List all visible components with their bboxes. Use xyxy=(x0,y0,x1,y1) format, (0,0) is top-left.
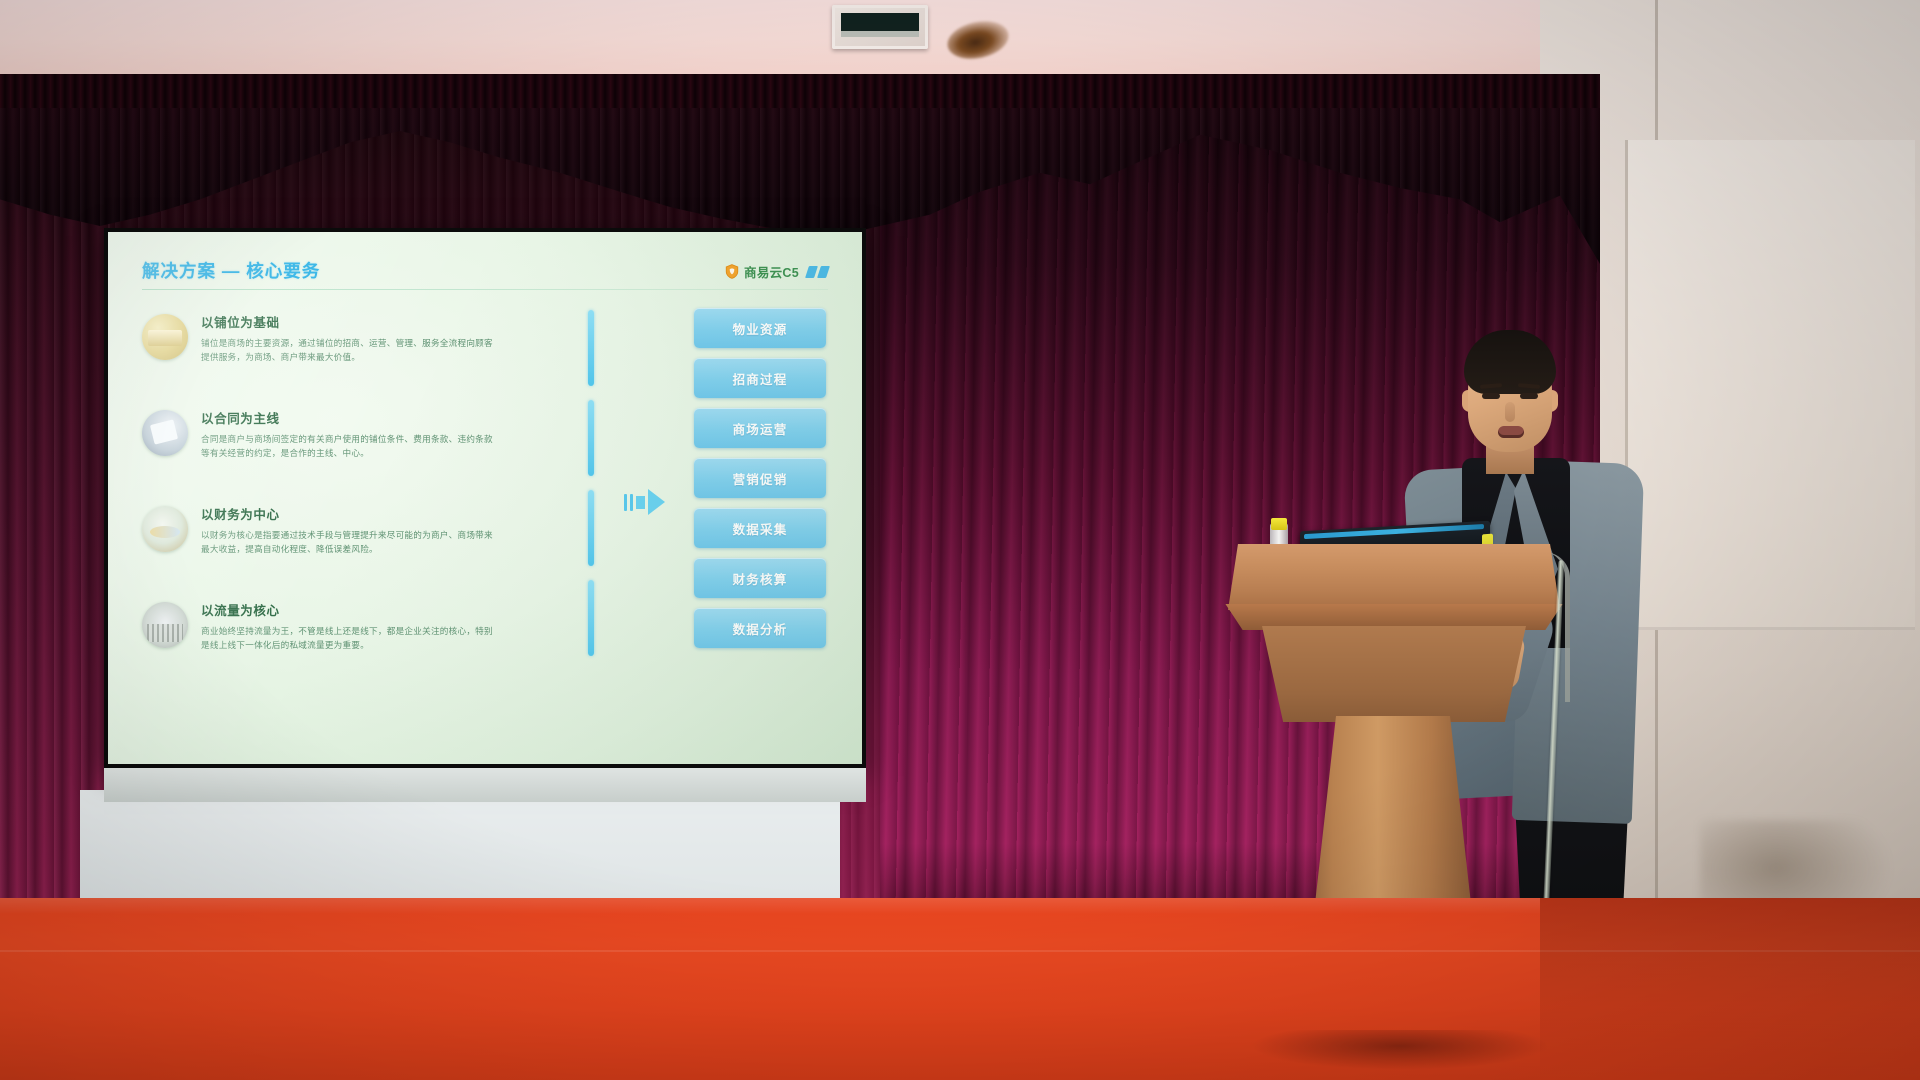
feature-description: 合同是商户与商场间签定的有关商户使用的铺位条件、费用条款、违约条款等有关经营的约… xyxy=(201,432,501,460)
feature-item: 以合同为主线 合同是商户与商场间签定的有关商户使用的铺位条件、费用条款、违约条款… xyxy=(142,406,612,502)
module-chip: 物业资源 xyxy=(694,308,826,348)
curtain-rail xyxy=(0,74,1600,108)
contract-signing-photo-icon xyxy=(142,410,188,456)
wall-panel xyxy=(1625,140,1915,630)
arrow-tick xyxy=(630,494,633,511)
crowd-photo-icon xyxy=(142,602,188,648)
feature-rail-group xyxy=(588,310,596,708)
podium-floor-shadow xyxy=(1250,1030,1550,1070)
slide-body: 以铺位为基础 铺位是商场的主要资源，通过铺位的招商、运营、管理、服务全流程向顾客… xyxy=(142,304,828,712)
feature-item: 以流量为核心 商业始终坚持流量为王，不管是线上还是线下，都是企业关注的核心，特别… xyxy=(142,598,612,694)
podium-top xyxy=(1228,544,1560,610)
feature-rail xyxy=(588,310,594,386)
floor-shadow xyxy=(1540,898,1920,1080)
shield-icon xyxy=(725,264,739,279)
brand-logo: 商易云C5 xyxy=(725,262,828,283)
finance-globe-photo-icon xyxy=(142,506,188,552)
right-arrow-icon xyxy=(624,480,682,524)
header-divider xyxy=(142,289,828,290)
arrow-tick xyxy=(624,494,627,511)
podium-body xyxy=(1262,626,1526,722)
feature-rail xyxy=(588,580,594,656)
feature-text: 以铺位为基础 铺位是商场的主要资源，通过铺位的招商、运营、管理、服务全流程向顾客… xyxy=(201,310,501,364)
module-chip: 营销促销 xyxy=(694,458,826,498)
feature-title: 以铺位为基础 xyxy=(201,312,501,331)
brand-name: 商易云C5 xyxy=(744,262,799,281)
module-chip: 商场运营 xyxy=(694,408,826,448)
feature-item: 以铺位为基础 铺位是商场的主要资源，通过铺位的招商、运营、管理、服务全流程向顾客… xyxy=(142,310,612,406)
storefront-photo-icon xyxy=(142,314,188,360)
feature-text: 以流量为核心 商业始终坚持流量为王，不管是线上还是线下，都是企业关注的核心，特别… xyxy=(201,598,501,652)
feature-title: 以流量为核心 xyxy=(201,600,501,619)
projector-screen-frame: 解决方案 — 核心要务 商易云C5 xyxy=(104,228,866,768)
module-chip: 数据分析 xyxy=(694,608,826,648)
feature-description: 铺位是商场的主要资源，通过铺位的招商、运营、管理、服务全流程向顾客提供服务，为商… xyxy=(201,336,501,364)
feature-rail xyxy=(588,400,594,476)
screen-bottom-skirt xyxy=(104,768,866,802)
module-chip: 数据采集 xyxy=(694,508,826,548)
presenter-eye-left xyxy=(1482,393,1500,399)
presentation-scene: 解决方案 — 核心要务 商易云C5 xyxy=(0,0,1920,1080)
presenter-mouth xyxy=(1498,426,1524,438)
presenter-eye-right xyxy=(1520,393,1538,399)
slide-header: 解决方案 — 核心要务 商易云C5 xyxy=(142,258,828,283)
feature-description: 商业始终坚持流量为王，不管是线上还是线下，都是企业关注的核心，特别是线上线下一体… xyxy=(201,624,501,652)
arrow-stem xyxy=(636,496,645,509)
feature-rail xyxy=(588,490,594,566)
presentation-slide: 解决方案 — 核心要务 商易云C5 xyxy=(108,232,862,764)
module-chip: 财务核算 xyxy=(694,558,826,598)
projector-screen: 解决方案 — 核心要务 商易云C5 xyxy=(108,232,862,764)
module-list: 物业资源 招商过程 商场运营 营销促销 数据采集 财务核算 数据分析 xyxy=(694,308,826,658)
feature-text: 以合同为主线 合同是商户与商场间签定的有关商户使用的铺位条件、费用条款、违约条款… xyxy=(201,406,501,460)
bottle-cap xyxy=(1271,518,1287,530)
feature-item: 以财务为中心 以财务为核心是指要通过技术手段与管理提升来尽可能的为商户、商场带来… xyxy=(142,502,612,598)
feature-list: 以铺位为基础 铺位是商场的主要资源，通过铺位的招商、运营、管理、服务全流程向顾客… xyxy=(142,304,612,712)
feature-title: 以合同为主线 xyxy=(201,408,501,427)
brand-bars-icon xyxy=(807,266,828,278)
arrow-head xyxy=(648,489,665,515)
stage-skirt-panel xyxy=(80,790,840,910)
air-vent-icon xyxy=(832,5,928,49)
feature-description: 以财务为核心是指要通过技术手段与管理提升来尽可能的为商户、商场带来最大收益，提高… xyxy=(201,528,501,556)
presenter-hair xyxy=(1464,330,1556,394)
presenter-nose xyxy=(1505,402,1515,422)
slide-title: 解决方案 — 核心要务 xyxy=(142,258,320,283)
feature-title: 以财务为中心 xyxy=(201,504,501,523)
feature-text: 以财务为中心 以财务为核心是指要通过技术手段与管理提升来尽可能的为商户、商场带来… xyxy=(201,502,501,556)
module-chip: 招商过程 xyxy=(694,358,826,398)
